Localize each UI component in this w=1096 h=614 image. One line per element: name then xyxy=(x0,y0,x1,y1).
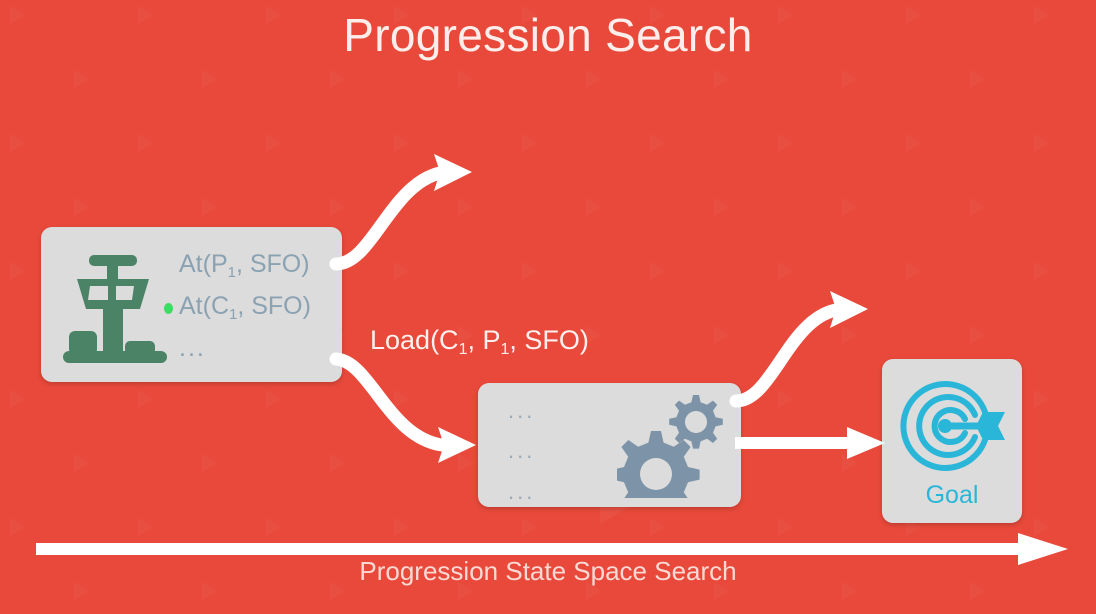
target-icon xyxy=(897,376,1009,476)
initial-state-box[interactable]: At(P1, SFO) At(C1, SFO) ... xyxy=(41,227,342,382)
fact-item-marked: At(C1, SFO) xyxy=(179,285,339,327)
page-title: Progression Search xyxy=(0,8,1096,62)
state-line-ellipsis: ... xyxy=(508,400,535,422)
slide-caption: Progression State Space Search xyxy=(0,556,1096,587)
fact-list: At(P1, SFO) At(C1, SFO) ... xyxy=(179,243,339,369)
fact-item: At(P1, SFO) xyxy=(179,243,339,285)
action-label: Load(C1, P1, SFO) xyxy=(370,325,589,356)
slide-canvas: Progression Search At(P1, SFO) xyxy=(0,0,1096,614)
branch-arrow-up-from-mid xyxy=(730,288,895,418)
control-tower-icon xyxy=(59,247,179,369)
arrow-mid-to-goal xyxy=(735,425,890,461)
fact-item-ellipsis: ... xyxy=(179,327,339,369)
state-line-ellipsis: ... xyxy=(508,440,535,462)
branch-arrow-up-from-start xyxy=(330,145,500,275)
state-line-ellipsis: ... xyxy=(508,481,535,503)
intermediate-state-box[interactable]: ... ... ... xyxy=(478,383,741,507)
goal-label: Goal xyxy=(882,481,1022,510)
goal-state-box[interactable]: Goal xyxy=(882,359,1022,523)
gears-icon xyxy=(617,393,725,498)
branch-arrow-down-to-mid xyxy=(330,355,500,470)
